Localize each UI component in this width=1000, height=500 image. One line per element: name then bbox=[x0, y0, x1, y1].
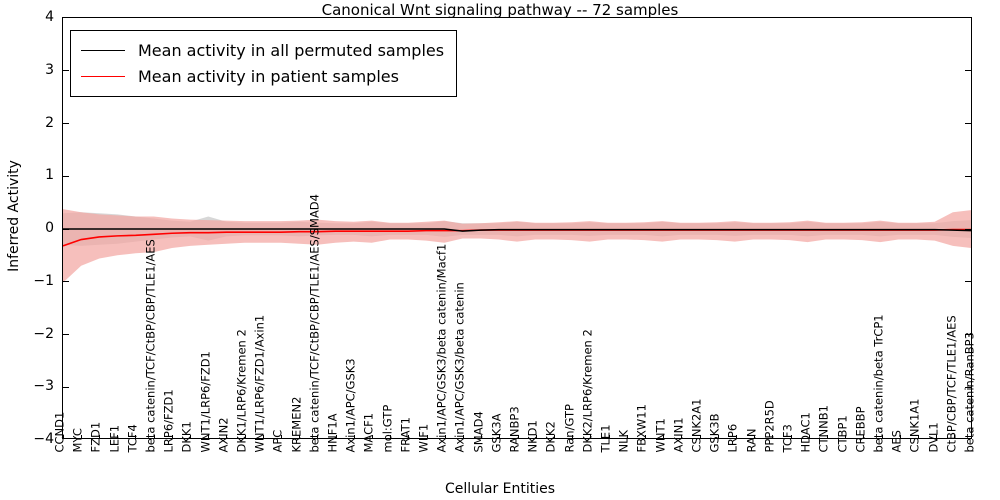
x-tick-label: TCF4 bbox=[127, 424, 139, 452]
y-tick-label: 3 bbox=[0, 63, 54, 77]
y-tick-label: 2 bbox=[0, 116, 54, 130]
x-tick-label: LEF1 bbox=[109, 425, 121, 453]
x-tick-label: CCND1 bbox=[55, 412, 67, 453]
y-tick-label: 0 bbox=[0, 221, 54, 235]
x-tick-label: beta catenin/RanBP3 bbox=[965, 332, 977, 452]
legend-item-permuted: Mean activity in all permuted samples bbox=[81, 37, 444, 63]
x-tick-label: HDAC1 bbox=[801, 412, 813, 452]
x-tick-label: CSNK1A1 bbox=[910, 399, 922, 453]
x-tick-label: KREMEN2 bbox=[291, 397, 303, 453]
y-tick-mark bbox=[965, 176, 971, 177]
x-tick-label: DKK1 bbox=[182, 421, 194, 452]
x-axis-label: Cellular Entities bbox=[0, 481, 1000, 497]
x-tick-label: CTNNB1 bbox=[819, 405, 831, 452]
legend-swatch-permuted bbox=[81, 50, 125, 51]
y-tick-label: −1 bbox=[0, 274, 54, 288]
x-tick-label: AES bbox=[892, 430, 904, 452]
x-tick-label: DVL1 bbox=[928, 422, 940, 452]
y-tick-label: −3 bbox=[0, 379, 54, 393]
y-tick-mark bbox=[965, 70, 971, 71]
x-tick-label: CtBP/CBP/TCF/TLE1/AES bbox=[946, 315, 958, 452]
x-tick-label: NKD1 bbox=[528, 420, 540, 452]
x-tick-label: RAN bbox=[746, 429, 758, 453]
x-tick-label: FZD1 bbox=[91, 422, 103, 453]
x-tick-label: WIF1 bbox=[419, 424, 431, 453]
x-tick-label: AXIN1 bbox=[673, 417, 685, 452]
x-tick-label: RANBP3 bbox=[510, 406, 522, 452]
legend-label-permuted: Mean activity in all permuted samples bbox=[138, 41, 444, 60]
legend: Mean activity in all permuted samples Me… bbox=[70, 30, 457, 97]
legend-item-patient: Mean activity in patient samples bbox=[81, 63, 444, 89]
x-tick-label: GSK3A bbox=[491, 414, 503, 453]
y-tick-mark bbox=[63, 387, 69, 388]
confidence-bands bbox=[63, 209, 971, 282]
x-tick-label: MYC bbox=[73, 428, 85, 452]
x-tick-label: LRP6 bbox=[728, 424, 740, 453]
y-tick-mark bbox=[63, 70, 69, 71]
x-tick-label: SMAD4 bbox=[473, 411, 485, 452]
x-tick-label: FRAT1 bbox=[400, 417, 412, 452]
legend-swatch-patient bbox=[81, 76, 125, 77]
x-tick-label: CSNK2A1 bbox=[692, 399, 704, 453]
legend-label-patient: Mean activity in patient samples bbox=[138, 67, 399, 86]
y-tick-mark bbox=[965, 229, 971, 230]
y-tick-mark bbox=[63, 334, 69, 335]
x-tick-label: MACF1 bbox=[364, 413, 376, 453]
x-tick-label: TCF3 bbox=[783, 424, 795, 452]
patient-confidence-band bbox=[63, 209, 971, 282]
x-tick-label: Axin1/APC/GSK3/beta catenin bbox=[455, 282, 467, 452]
x-tick-label: mol:GTP bbox=[382, 405, 394, 453]
y-tick-mark bbox=[63, 123, 69, 124]
y-tick-mark bbox=[63, 229, 69, 230]
y-tick-label: 1 bbox=[0, 168, 54, 182]
x-tick-label: GSK3B bbox=[710, 414, 722, 453]
x-tick-label: PPP2R5D bbox=[764, 400, 776, 452]
x-tick-label: DKK2 bbox=[546, 421, 558, 452]
x-tick-label: beta catenin/beta TrCP1 bbox=[874, 314, 886, 452]
x-tick-label: NLK bbox=[619, 430, 631, 453]
x-tick-label: Axin1/APC/GSK3/beta catenin/Macf1 bbox=[437, 244, 449, 453]
x-tick-label: DKK1/LRP6/Kremen 2 bbox=[237, 329, 249, 452]
x-tick-label: beta catenin/TCF/CtBP/CBP/TLE1/AES/SMAD4 bbox=[309, 194, 321, 452]
x-tick-label: WNT1/LRP6/FZD1 bbox=[200, 351, 212, 452]
x-tick-label: APC bbox=[273, 430, 285, 453]
x-tick-label: Axin1/APC/GSK3 bbox=[346, 358, 358, 452]
x-tick-label: Ran/GTP bbox=[564, 404, 576, 452]
x-tick-label: WNT1/LRP6/FZD1/Axin1 bbox=[255, 315, 267, 453]
x-tick-label: CTBP1 bbox=[837, 415, 849, 452]
x-tick-label: DKK2/LRP6/Kremen 2 bbox=[582, 329, 594, 452]
y-tick-mark bbox=[63, 176, 69, 177]
x-tick-label: TLE1 bbox=[601, 424, 613, 452]
x-tick-label: HNF1A bbox=[328, 413, 340, 452]
y-tick-mark bbox=[63, 281, 69, 282]
x-tick-label: WNT1 bbox=[655, 418, 667, 452]
x-tick-label: beta catenin/TCF/CtBP/CBP/TLE1/AES bbox=[146, 239, 158, 452]
x-tick-label: CREBBP bbox=[855, 407, 867, 453]
y-tick-mark bbox=[965, 123, 971, 124]
x-tick-label: LRP6/FZD1 bbox=[164, 389, 176, 452]
x-tick-label: AXIN2 bbox=[218, 417, 230, 452]
y-tick-label: 4 bbox=[0, 10, 54, 24]
y-tick-label: −4 bbox=[0, 432, 54, 446]
y-tick-label: −2 bbox=[0, 327, 54, 341]
chart-figure: Canonical Wnt signaling pathway -- 72 sa… bbox=[0, 0, 1000, 500]
x-tick-label: FBXW11 bbox=[637, 404, 649, 452]
y-tick-mark bbox=[965, 281, 971, 282]
